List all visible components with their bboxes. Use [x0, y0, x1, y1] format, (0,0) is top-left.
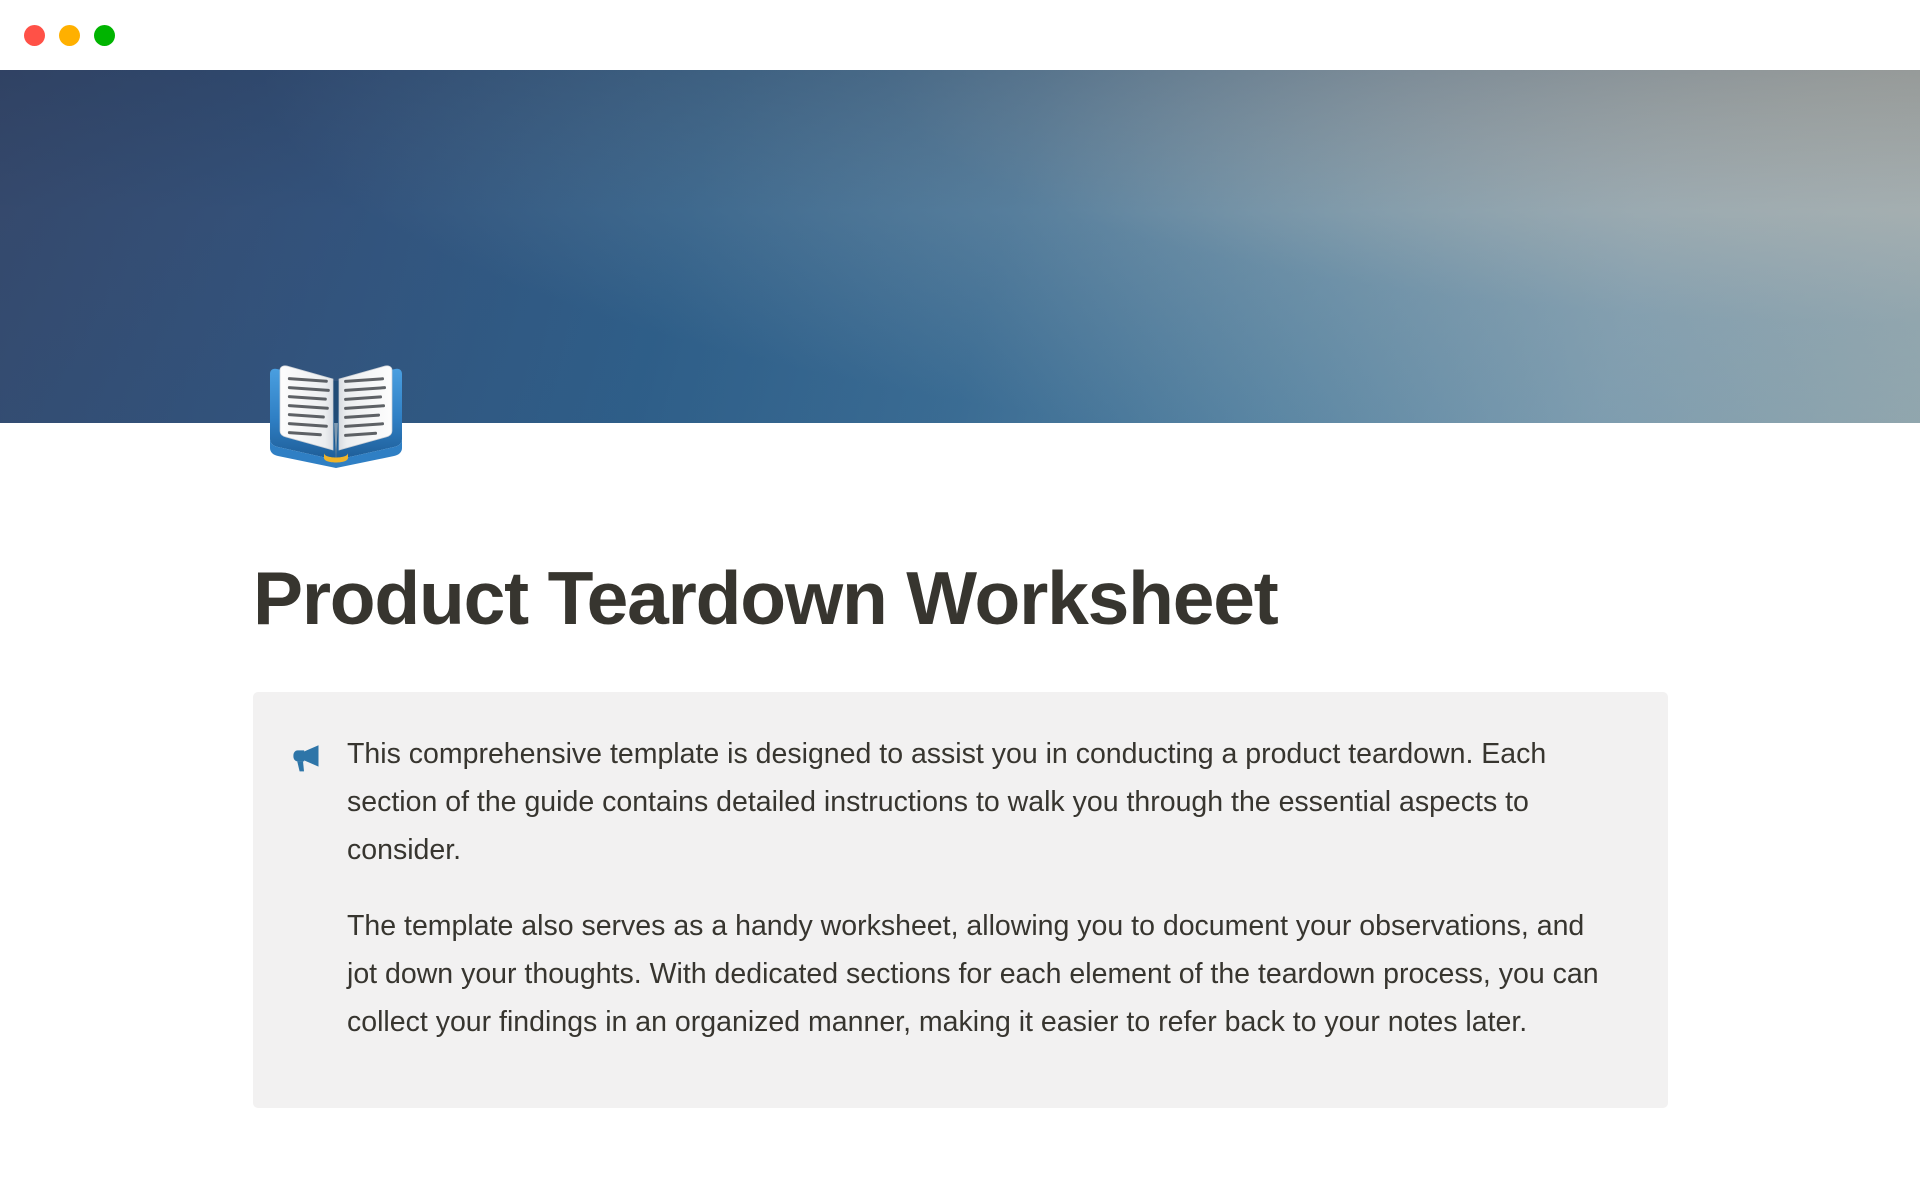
app-window: Product Teardown Worksheet This comprehe… — [0, 0, 1920, 1200]
open-book-emoji-icon[interactable] — [262, 352, 410, 468]
window-titlebar — [0, 0, 1920, 70]
close-window-button[interactable] — [24, 25, 45, 46]
page-title[interactable]: Product Teardown Worksheet — [253, 561, 1278, 636]
traffic-light-group — [24, 25, 115, 46]
minimize-window-button[interactable] — [59, 25, 80, 46]
megaphone-icon — [287, 738, 325, 776]
maximize-window-button[interactable] — [94, 25, 115, 46]
callout-text: This comprehensive template is designed … — [347, 730, 1612, 1046]
callout-block[interactable]: This comprehensive template is designed … — [253, 692, 1668, 1108]
page-content: Product Teardown Worksheet This comprehe… — [0, 423, 1920, 1200]
callout-paragraph-1: This comprehensive template is designed … — [347, 730, 1612, 874]
callout-paragraph-2: The template also serves as a handy work… — [347, 902, 1612, 1046]
